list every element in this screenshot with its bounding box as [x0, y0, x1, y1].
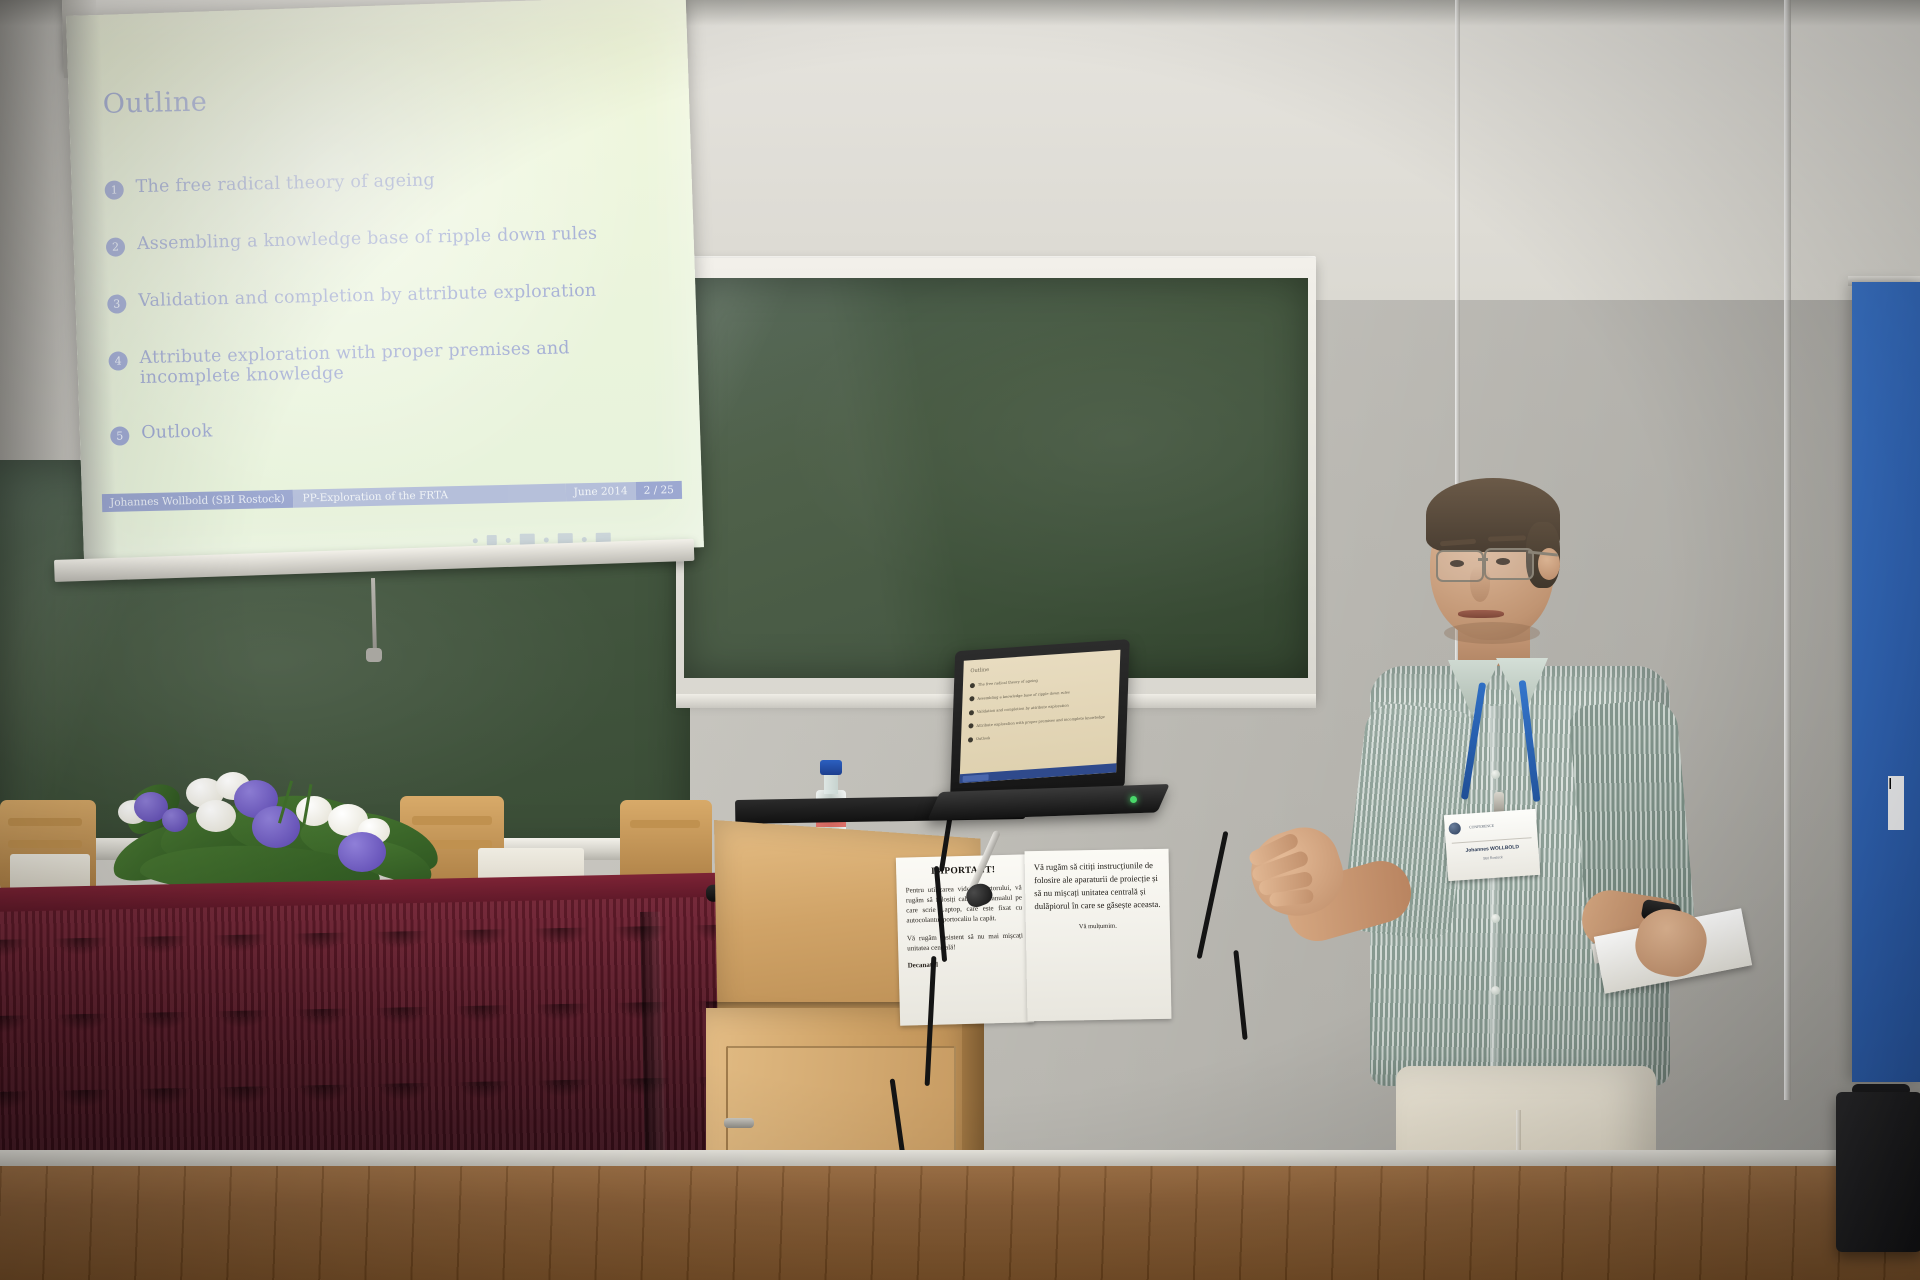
slide-item-label: Outlook: [141, 421, 213, 443]
white-flower: [196, 800, 236, 832]
purple-orchid: [162, 808, 188, 832]
laptop-taskbar-button[interactable]: [963, 774, 989, 782]
slide-item-number: 2: [106, 237, 125, 256]
shirt-placket: [1490, 706, 1502, 1066]
skirt-scallop-row: [0, 1074, 798, 1138]
badge-logo-icon: [1448, 822, 1461, 835]
nav-next-frame-icon: [582, 536, 587, 541]
floor-parquet-pattern: [0, 1166, 1920, 1280]
slide-item: 5 Outlook: [110, 411, 670, 446]
laptop-bag: [1836, 1092, 1920, 1252]
badge-header: CONFERENCE: [1448, 814, 1533, 838]
water-bottle-cap[interactable]: [820, 760, 842, 775]
slide-footer-page: 2 / 25: [635, 481, 682, 500]
nav-first-icon: [473, 538, 478, 543]
laptop-slide-title: Outline: [970, 658, 1113, 674]
chair-slat: [630, 820, 700, 828]
chair-slat: [8, 840, 82, 848]
purple-orchid: [252, 806, 300, 848]
nav-prev-icon: [506, 537, 511, 542]
glasses-bridge: [1478, 558, 1488, 561]
slide-item: 4 Attribute exploration with proper prem…: [108, 336, 669, 389]
slide-item: 1 The free radical theory of ageing: [104, 165, 664, 200]
slide-item: 2 Assembling a knowledge base of ripple …: [106, 222, 666, 257]
laptop-item-bullet: [968, 737, 973, 742]
blue-banner: [1852, 282, 1920, 1082]
chair-cushion: [10, 854, 90, 890]
skirt-scallop-row: [0, 998, 798, 1062]
laptop-slide-item: Outlook: [968, 727, 1111, 742]
podium-sign-left: IMPORTANT! Pentru utilizarea videoproiec…: [896, 854, 1034, 1025]
slide-item-label: The free radical theory of ageing: [135, 170, 435, 197]
laptop-lid: Outline The free radical theory of agein…: [950, 639, 1130, 800]
slide-title: Outline: [102, 76, 663, 120]
slide-item-number: 5: [110, 426, 129, 445]
lecture-hall-photo: Outline 1 The free radical theory of age…: [0, 0, 1920, 1280]
laptop-item-label: Outlook: [976, 736, 990, 741]
wall-seam-right: [1784, 0, 1791, 1100]
projected-slide: Outline 1 The free radical theory of age…: [102, 76, 672, 529]
white-flower: [296, 796, 332, 826]
laptop-item-bullet: [969, 696, 974, 701]
skirt-scallop-row: [0, 922, 798, 986]
laptop-item-bullet: [968, 723, 973, 728]
laptop-item-label: The free radical theory of ageing: [978, 679, 1038, 687]
laptop-screen[interactable]: Outline The free radical theory of agein…: [960, 650, 1121, 784]
shirt-button: [1491, 914, 1500, 923]
nav-prev-frame-icon: [487, 535, 497, 545]
sign-right-thanks: Vă mulțumim.: [1035, 920, 1161, 932]
podium-door-handle[interactable]: [724, 1118, 754, 1128]
conference-badge: CONFERENCE Johannes WOLLBOLD SBI Rostock: [1444, 809, 1540, 881]
podium-sign-right: Vă rugăm să citiți instrucțiunile de fol…: [1025, 849, 1172, 1021]
projector-screen-cord-handle: [366, 648, 382, 662]
glasses-lens-right: [1484, 548, 1534, 580]
shirt-button: [1491, 770, 1500, 779]
laptop-slide-item: Assembling a knowledge base of ripple do…: [969, 686, 1112, 701]
laptop-power-led-icon: [1130, 796, 1137, 803]
laptop-item-label: Attribute exploration with proper premis…: [976, 714, 1105, 727]
slide-item-label: Attribute exploration with proper premis…: [139, 336, 669, 388]
nav-next-icon: [544, 537, 549, 542]
nose: [1470, 566, 1490, 602]
sign-left-heading: IMPORTANT!: [905, 865, 1021, 878]
laptop-item-label: Validation and completion by attribute e…: [977, 703, 1069, 713]
projection-screen: Outline 1 The free radical theory of age…: [66, 0, 704, 568]
sign-left-body-2: Vă rugăm insistent să nu mai mișcați uni…: [907, 930, 1023, 953]
laptop-item-label: Assembling a knowledge base of ripple do…: [977, 690, 1069, 700]
slide-item-number: 1: [105, 180, 124, 199]
slide-outline-list: 1 The free radical theory of ageing 2 As…: [104, 165, 670, 446]
slide-item-label: Assembling a knowledge base of ripple do…: [137, 224, 598, 254]
laptop-item-bullet: [970, 682, 975, 687]
badge-affiliation: SBI Rostock: [1451, 853, 1535, 863]
chin-shadow: [1444, 622, 1540, 644]
laptop-slide-item: The free radical theory of ageing: [970, 673, 1113, 688]
laptop-slide-item: Validation and completion by attribute e…: [969, 700, 1112, 715]
purple-orchid: [338, 832, 386, 872]
sign-left-signature: Decanatul: [908, 957, 1024, 970]
water-bottle-neck: [824, 772, 838, 794]
shirt-button: [1491, 986, 1500, 995]
banner-letter: I: [1888, 776, 1904, 830]
chalkboard-main: [684, 278, 1308, 678]
slide-item-number: 3: [107, 294, 126, 313]
laptop-item-bullet: [969, 710, 974, 715]
slide-footer-date: June 2014: [565, 482, 635, 502]
mouth: [1458, 610, 1504, 618]
badge-organization: CONFERENCE: [1469, 824, 1494, 830]
slide-item: 3 Validation and completion by attribute…: [107, 279, 667, 314]
sign-left-body-1: Pentru utilizarea videoproiectorului, vă…: [906, 883, 1023, 927]
sign-right-body: Vă rugăm să citiți instrucțiunile de fol…: [1034, 859, 1161, 913]
chair-slat: [8, 818, 82, 826]
badge-divider: [1452, 837, 1532, 844]
laptop-slide-item: Attribute exploration with proper premis…: [968, 714, 1111, 729]
laptop-slide: Outline The free radical theory of agein…: [960, 650, 1121, 784]
slide-item-number: 4: [108, 351, 127, 370]
slide-footer-author: Johannes Wollbold (SBI Rostock): [102, 490, 293, 512]
slide-item-label: Validation and completion by attribute e…: [138, 281, 597, 311]
